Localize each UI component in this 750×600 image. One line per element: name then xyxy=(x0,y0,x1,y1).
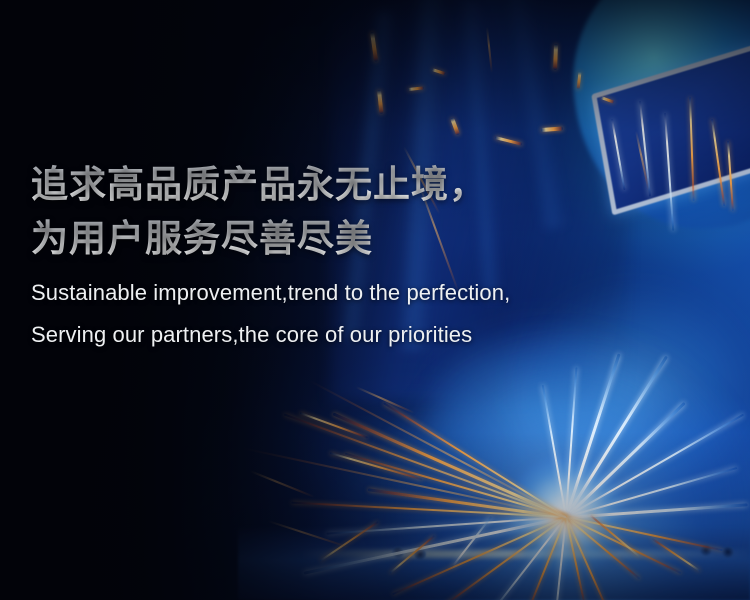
subheadline-line-2: Serving our partners,the core of our pri… xyxy=(31,319,691,350)
subheadline-line-1: Sustainable improvement,trend to the per… xyxy=(31,277,691,308)
hero-banner: 追求高品质产品永无止境， 为用户服务尽善尽美 Sustainable impro… xyxy=(0,0,750,600)
headline-line-2: 为用户服务尽善尽美 xyxy=(31,212,691,266)
banner-copy: 追求高品质产品永无止境， 为用户服务尽善尽美 Sustainable impro… xyxy=(31,158,691,350)
headline-line-1: 追求高品质产品永无止境， xyxy=(31,158,691,212)
